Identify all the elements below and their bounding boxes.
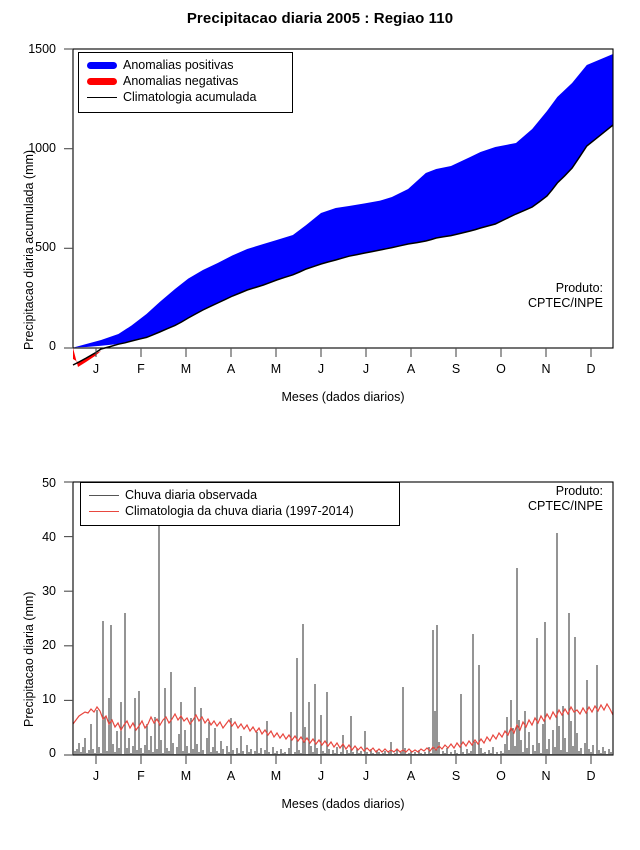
bottom-produto-annotation: Produto: CPTEC/INPE <box>443 484 603 514</box>
legend-swatch-observed-icon <box>83 495 125 496</box>
daily-climatology-line <box>73 704 613 752</box>
top-x-tick-S: S <box>441 362 471 376</box>
bottom-x-tick-J3: J <box>351 769 381 783</box>
top-x-tick-J2: J <box>306 362 336 376</box>
precipitation-report: Precipitacao diaria 2005 : Regiao 110 Pr… <box>0 0 640 850</box>
legend-item-negative: Anomalias negativas <box>81 73 289 89</box>
legend-label-climatology: Climatologia acumulada <box>123 90 256 104</box>
legend-label-positive: Anomalias positivas <box>123 58 233 72</box>
legend-swatch-positive-icon <box>81 62 123 69</box>
top-produto-annotation: Produto: CPTEC/INPE <box>443 281 603 311</box>
bottom-x-tick-F: F <box>126 769 156 783</box>
legend-swatch-daily-climatology-icon <box>83 511 125 512</box>
top-x-tick-O: O <box>486 362 516 376</box>
top-x-tick-N: N <box>531 362 561 376</box>
bottom-legend: Chuva diaria observada Climatologia da c… <box>80 482 400 526</box>
bottom-x-tick-A1: A <box>216 769 246 783</box>
bottom-x-tick-N: N <box>531 769 561 783</box>
top-x-tick-A1: A <box>216 362 246 376</box>
top-x-axis-label: Meses (dados diarios) <box>173 390 513 404</box>
bottom-x-tick-A2: A <box>396 769 426 783</box>
bottom-x-tick-J1: J <box>81 769 111 783</box>
top-x-tick-J1: J <box>81 362 111 376</box>
legend-item-positive: Anomalias positivas <box>81 57 289 73</box>
bottom-x-axis-label: Meses (dados diarios) <box>173 797 513 811</box>
top-x-tick-J3: J <box>351 362 381 376</box>
bottom-x-tick-D: D <box>576 769 606 783</box>
legend-item-observed: Chuva diaria observada <box>83 487 396 503</box>
top-x-tick-D: D <box>576 362 606 376</box>
daily-precipitation-chart: Precipitacao diaria (mm) 50 40 30 20 10 … <box>0 462 640 850</box>
top-legend: Anomalias positivas Anomalias negativas … <box>78 52 293 113</box>
top-y-ticks <box>64 49 73 348</box>
accumulated-precipitation-chart: Precipitacao diaria acumulada (mm) 1500 … <box>0 28 640 438</box>
top-x-ticks <box>96 348 591 357</box>
bottom-x-tick-J2: J <box>306 769 336 783</box>
legend-swatch-negative-icon <box>81 78 123 85</box>
top-x-tick-F: F <box>126 362 156 376</box>
legend-label-observed: Chuva diaria observada <box>125 488 257 502</box>
page-title: Precipitacao diaria 2005 : Regiao 110 <box>0 10 640 27</box>
legend-swatch-climatology-icon <box>81 97 123 98</box>
legend-label-negative: Anomalias negativas <box>123 74 238 88</box>
legend-item-climatology: Climatologia acumulada <box>81 89 289 105</box>
top-x-tick-M1: M <box>171 362 201 376</box>
bottom-x-tick-O: O <box>486 769 516 783</box>
bottom-x-tick-S: S <box>441 769 471 783</box>
top-x-tick-A2: A <box>396 362 426 376</box>
bottom-x-tick-M1: M <box>171 769 201 783</box>
legend-item-daily-climatology: Climatologia da chuva diaria (1997-2014) <box>83 503 396 519</box>
bottom-y-ticks <box>64 482 73 755</box>
bottom-x-ticks <box>96 755 591 764</box>
top-x-tick-M2: M <box>261 362 291 376</box>
bottom-x-tick-M2: M <box>261 769 291 783</box>
legend-label-daily-climatology: Climatologia da chuva diaria (1997-2014) <box>125 504 354 518</box>
